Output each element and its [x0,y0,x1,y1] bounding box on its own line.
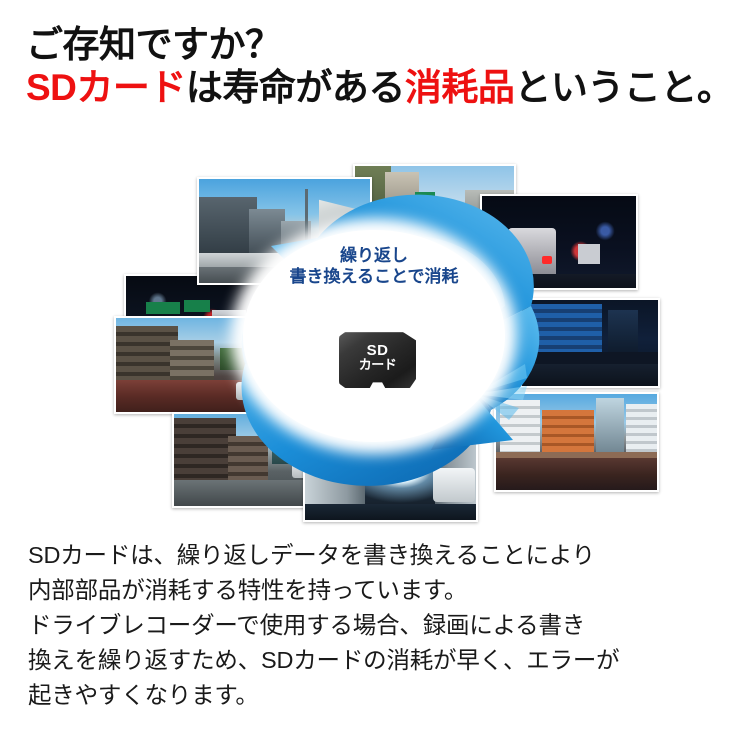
photo-decor [496,452,659,458]
headline-line-2-part-2: は寿命がある [186,67,405,108]
photo-right-lower [494,392,659,492]
photo-decor [228,436,268,480]
photo-decor [578,244,600,264]
photo-decor [626,404,658,456]
headline-consumable-term: 消耗品 [405,67,515,108]
photo-decor [500,400,540,456]
sd-card-label: SD カード [339,332,416,388]
sd-card-label-bottom: カード [359,358,397,373]
sd-card-label-top: SD [367,343,389,359]
photo-decor [512,256,522,264]
body-copy-line-1: SDカードは、繰り返しデータを書き換えることにより [28,538,728,573]
photo-decor [528,304,602,352]
body-copy-line-3: ドライブレコーダーで使用する場合、録画による書き [28,608,728,643]
photo-decor [146,302,180,314]
photo-decor [174,418,236,482]
photo-decor [305,189,308,249]
body-copy-line-2: 内部部品が消耗する特性を持っています。 [28,573,728,608]
headline-sd-card-term: SDカード [26,67,186,108]
photo-decor [433,468,475,502]
headline-block: ご存知ですか？ SDカードは寿命がある消耗品ということ。 [26,24,736,109]
headline-line-1-text: ご存知ですか？ [26,24,282,65]
photo-decor [542,410,594,456]
photo-decor [482,274,638,290]
photo-decor [184,300,210,312]
body-copy-line-5: 起きやすくなります。 [28,678,728,713]
photo-decor [249,209,285,257]
photo-decor [522,364,660,388]
photo-decor [542,256,552,264]
headline-line-1: ご存知ですか？ [26,24,736,65]
photo-right-upper [480,194,638,290]
photo-collage-diagram: 繰り返し 書き換えることで消耗 SD カード [0,150,750,525]
body-copy-line-4: 換えを繰り返すため、SDカードの消耗が早く、エラーが [28,643,728,678]
headline-line-2-part-4: ということ。 [514,67,733,108]
sd-card-graphic: SD カード [339,332,416,388]
photo-decor [385,172,419,218]
photo-decor [415,192,435,204]
headline-line-2: SDカードは寿命がある消耗品ということ。 [26,67,736,108]
body-copy-block: SDカードは、繰り返しデータを書き換えることにより 内部部品が消耗する特性を持っ… [28,538,728,713]
photo-right-middle [520,298,660,388]
infographic-page: ご存知ですか？ SDカードは寿命がある消耗品ということ。 [0,0,750,750]
photo-decor [522,352,660,364]
photo-decor [508,228,556,274]
photo-decor [305,504,478,522]
photo-decor [496,456,659,492]
photo-decor [608,310,638,354]
photo-decor [351,456,359,466]
photo-decor [596,398,624,456]
